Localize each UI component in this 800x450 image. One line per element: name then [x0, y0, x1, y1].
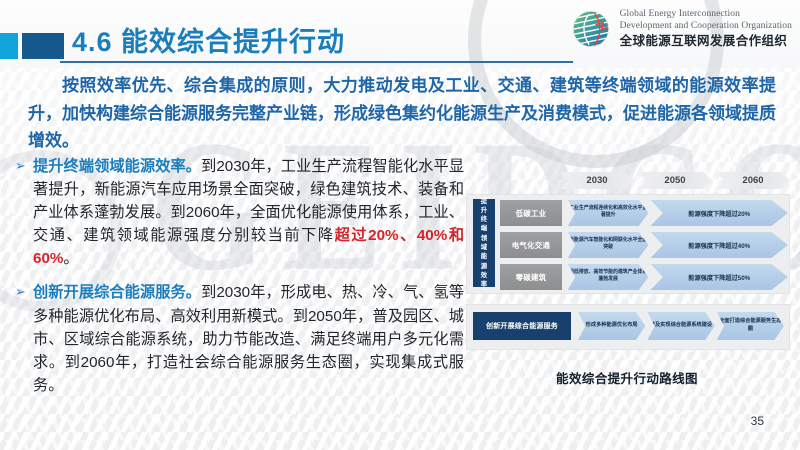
- logo-text-group: Global Energy Interconnection Developmen…: [620, 9, 792, 49]
- bullet-list: ➢ 提升终端领域能源效率。到2030年，工业生产流程智能化水平显著提升，新能源汽…: [14, 155, 464, 408]
- milestone-2060-industry: 能源强度下降超过20%: [650, 200, 788, 226]
- milestone-2060-building: 能源强度下降超过50%: [650, 264, 788, 290]
- chevron-right-icon: ➢: [15, 282, 26, 302]
- chevron-right-icon: ➢: [15, 156, 26, 176]
- milestone-2030-building: 超低排放、高效节能的建筑产业体系蓬勃发展: [568, 264, 649, 290]
- logo-en-line1: Global Energy Interconnection: [620, 9, 792, 21]
- sector-cell-building: 零碳建筑: [500, 264, 562, 290]
- roadmap-row-transport: 电气化交通 新能源汽车智能化和网联化水平全面突破 能源强度下降超过40%: [500, 232, 788, 258]
- service-panel-label: 创新开展综合能源服务: [473, 312, 571, 340]
- logo-cn-name: 全球能源互联网发展合作组织: [620, 34, 792, 50]
- page-number: 35: [751, 414, 764, 428]
- globe-logo-icon: [569, 7, 613, 51]
- service-step-3: 全面打造综合能源服务生态圈: [717, 312, 784, 340]
- organization-logo: Global Energy Interconnection Developmen…: [569, 7, 792, 51]
- lead-paragraph: 按照效率优先、综合集成的原则，大力推动发电及工业、交通、建筑等终端领域的能源效率…: [28, 72, 776, 155]
- efficiency-panel-label: 提升终端领域能源效率: [473, 199, 495, 287]
- year-axis: 2030 2050 2060: [560, 172, 790, 189]
- header-accent-block-navy: [22, 33, 64, 59]
- milestone-2030-industry: 工业生产流程连续化和高效化水平显著提升: [568, 200, 649, 226]
- diagram-caption: 能效综合提升行动路线图: [466, 368, 788, 387]
- sector-cell-transport: 电气化交通: [500, 232, 562, 258]
- service-step-1: 形成多种能源优化布局: [578, 312, 645, 340]
- bullet-2-lead: 创新开展综合能源服务。: [33, 284, 201, 301]
- bullet-item-1: ➢ 提升终端领域能源效率。到2030年，工业生产流程智能化水平显著提升，新能源汽…: [14, 155, 464, 270]
- service-step-2: 普及实现综合能源系统建设: [647, 312, 714, 340]
- year-chip-2060: 2060: [716, 172, 790, 189]
- header-divider: [60, 61, 573, 63]
- bullet-1-body-tail: 。: [63, 250, 78, 267]
- roadmap-row-building: 零碳建筑 超低排放、高效节能的建筑产业体系蓬勃发展 能源强度下降超过50%: [500, 264, 788, 290]
- roadmap-diagram: 2030 2050 2060 提升终端领域能源效率 低碳工业 工业生产流程连续化…: [466, 172, 788, 360]
- bullet-item-2: ➢ 创新开展综合能源服务。到2030年，形成电、热、冷、气、氢等多种能源优化布局…: [14, 281, 464, 396]
- milestone-2030-transport: 新能源汽车智能化和网联化水平全面突破: [568, 232, 649, 258]
- efficiency-panel-label-text: 提升终端领域能源效率: [480, 197, 488, 290]
- sector-cell-industry: 低碳工业: [500, 200, 562, 226]
- bullet-1-lead: 提升终端领域能源效率。: [33, 158, 201, 175]
- page-title: 4.6 能效综合提升行动: [72, 20, 345, 59]
- year-chip-2050: 2050: [638, 172, 712, 189]
- service-steps: 形成多种能源优化布局 普及实现综合能源系统建设 全面打造综合能源服务生态圈: [578, 312, 784, 340]
- logo-en-line2: Development and Cooperation Organization: [620, 21, 792, 33]
- slide: GEIDCO ▂▅▇ ❧ 4.6 能效综合提升行动: [0, 0, 800, 450]
- year-chip-2030: 2030: [560, 172, 634, 189]
- header-accent-block-cyan: [0, 33, 18, 59]
- roadmap-row-industry: 低碳工业 工业生产流程连续化和高效化水平显著提升 能源强度下降超过20%: [500, 200, 788, 226]
- milestone-2060-transport: 能源强度下降超过40%: [650, 232, 788, 258]
